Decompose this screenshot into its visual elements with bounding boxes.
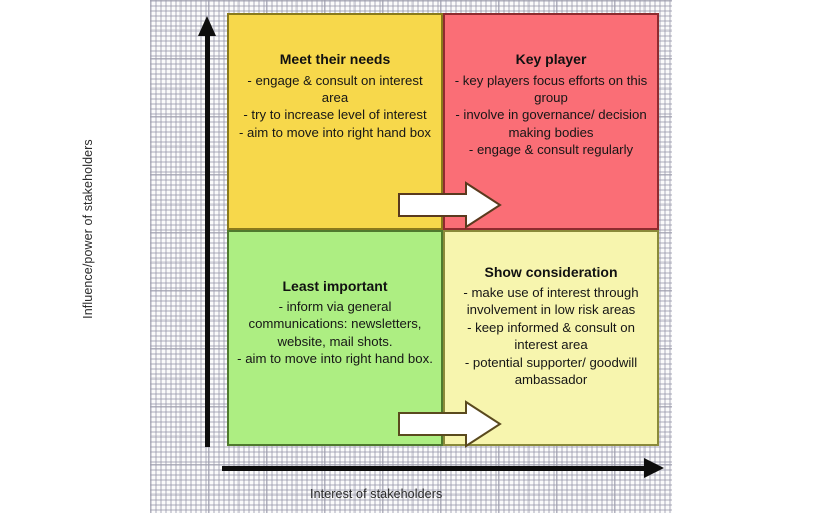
- move-right-arrow-icon: [398, 181, 502, 229]
- quadrant-line: - engage & consult on interest area: [237, 72, 433, 107]
- quadrant-line: - engage & consult regularly: [453, 141, 649, 158]
- move-right-arrow-icon: [398, 400, 502, 448]
- quadrant-line: - aim to move into right hand box.: [237, 350, 433, 367]
- quadrant-line: - involve in governance/ decision making…: [453, 106, 649, 141]
- quadrant-title: Key player: [453, 51, 649, 69]
- y-axis-arrowhead-icon: [198, 16, 216, 36]
- y-axis-line: [205, 32, 210, 447]
- x-axis-arrowhead-icon: [644, 458, 664, 478]
- quadrant-line: - inform via general communications: new…: [237, 298, 433, 350]
- quadrant-title: Least important: [237, 278, 433, 296]
- quadrant-body: Show consideration - make use of interes…: [453, 264, 649, 389]
- quadrant-body: Meet their needs - engage & consult on i…: [237, 51, 433, 141]
- quadrant-line: - potential supporter/ goodwill ambassad…: [453, 354, 649, 389]
- quadrant-line: - aim to move into right hand box: [237, 124, 433, 141]
- quadrant-line: - keep informed & consult on interest ar…: [453, 319, 649, 354]
- quadrant-body: Key player - key players focus efforts o…: [453, 51, 649, 159]
- diagram-canvas: Influence/power of stakeholders Interest…: [0, 0, 830, 513]
- x-axis-line: [222, 466, 646, 471]
- quadrant-title: Meet their needs: [237, 51, 433, 69]
- quadrant-line: - key players focus efforts on this grou…: [453, 72, 649, 107]
- y-axis-label: Influence/power of stakeholders: [81, 79, 95, 379]
- quadrant-line: - try to increase level of interest: [237, 106, 433, 123]
- quadrant-line: - make use of interest through involveme…: [453, 284, 649, 319]
- stakeholder-matrix: Meet their needs - engage & consult on i…: [227, 13, 659, 446]
- quadrant-body: Least important - inform via general com…: [237, 278, 433, 368]
- quadrant-title: Show consideration: [453, 264, 649, 282]
- x-axis-label: Interest of stakeholders: [310, 487, 442, 501]
